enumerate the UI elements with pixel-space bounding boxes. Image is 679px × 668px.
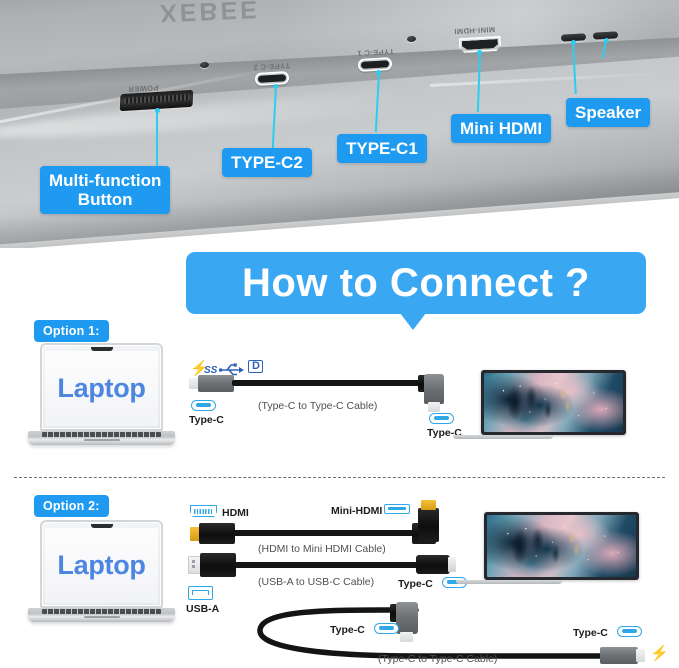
opt2-cableA-dest-label: Mini-HDMI — [331, 505, 382, 517]
section-divider — [14, 477, 665, 478]
callout-mini-hdmi: Mini HDMI — [451, 114, 551, 143]
laptop-lid: Laptop — [40, 520, 163, 608]
laptop-screen-label: Laptop — [57, 373, 145, 404]
monitor-stand — [456, 580, 562, 584]
leader-dot-speaker-b — [604, 38, 609, 43]
monitor-stand — [453, 435, 553, 439]
callout-speaker: Speaker — [566, 98, 650, 127]
callout-type-c1: TYPE-C1 — [337, 134, 427, 163]
opt2-cableC-right-plug — [600, 647, 638, 664]
hdmi-icon — [190, 505, 217, 517]
product-photo-section: XEBEE POWER TYPE-C 2 TYPE-C 1 MINI-HDMI … — [0, 0, 679, 248]
thunderbolt-icon-opt2: ⚡ — [650, 646, 669, 661]
displayport-icon: D — [248, 360, 263, 373]
opt1-cable-wire — [232, 380, 426, 386]
opt2-cableB-type-c-tip — [448, 557, 456, 572]
type-c-icon-opt2-cableC-dest — [617, 626, 642, 637]
opt2-cableC-source-label: Type-C — [330, 624, 365, 636]
leader-dot-type-c2 — [273, 84, 278, 89]
brand-logo-mirrored: XEBEE — [159, 0, 260, 27]
leader-dot-multi-function — [155, 108, 160, 113]
leader-dot-mini-hdmi — [477, 50, 482, 55]
usb-a-icon — [188, 586, 213, 600]
opt2-cableC-angle-housing — [396, 602, 418, 634]
banner-pointer — [400, 313, 426, 330]
leader-line-multi-function — [156, 110, 158, 168]
silkscreen-type-c2: TYPE-C 2 — [253, 61, 290, 72]
silkscreen-type-c1: TYPE-C 1 — [357, 47, 394, 58]
opt1-right-type-c-tip — [428, 402, 440, 412]
opt1-source-port-label: Type-C — [189, 414, 224, 426]
laptop-screen: Laptop — [45, 351, 158, 426]
laptop-screen-label: Laptop — [57, 550, 145, 581]
opt2-cableB-wire — [234, 562, 419, 568]
option-2-badge: Option 2: — [34, 495, 109, 517]
hdmi-plug-body — [199, 523, 235, 544]
leader-dot-type-c1 — [376, 70, 381, 75]
option-1-badge: Option 1: — [34, 320, 109, 342]
monitor-screen-artwork — [484, 373, 623, 432]
opt2-cableC-dest-label: Type-C — [573, 627, 608, 639]
laptop-base — [28, 608, 175, 622]
opt2-cableA-source-label: HDMI — [222, 507, 249, 519]
laptop-base — [28, 431, 175, 445]
callout-line-1: Multi-function — [49, 171, 161, 190]
opt1-cable-caption: (Type-C to Type-C Cable) — [258, 400, 377, 412]
opt2-cableC-angle-tip — [400, 632, 413, 642]
usb-trident-icon — [219, 362, 245, 376]
type-c1-port — [358, 57, 393, 72]
type-c-icon-opt2-cableC-source — [374, 623, 399, 634]
type-c-icon-opt1-dest — [429, 413, 454, 424]
option-2-laptop: Laptop — [28, 520, 175, 624]
opt2-cableC-caption: (Type-C to Type-C Cable) — [378, 653, 497, 665]
opt2-cableB-caption: (USB-A to USB-C Cable) — [258, 576, 374, 588]
minihdmi-gold-tip — [421, 500, 436, 510]
opt1-right-angle-housing — [424, 374, 444, 404]
monitor-screen-artwork — [487, 515, 636, 577]
mini-hdmi-icon — [384, 504, 410, 514]
callout-type-c2: TYPE-C2 — [222, 148, 312, 177]
opt2-cableA-wire — [233, 530, 418, 536]
laptop-screen: Laptop — [45, 528, 158, 603]
opt2-cableB-type-c-plug — [416, 555, 450, 574]
opt2-cableC-right-tip — [636, 649, 645, 662]
opt2-cableB-source-label: USB-A — [186, 603, 219, 615]
opt2-cableB-dest-label: Type-C — [398, 578, 433, 590]
laptop-lid: Laptop — [40, 343, 163, 431]
option-1-laptop: Laptop — [28, 343, 175, 447]
callout-multi-function-button: Multi-function Button — [40, 166, 170, 214]
opt1-left-type-c-plug — [198, 375, 234, 392]
callout-line-2: Button — [49, 190, 161, 209]
leader-dot-speaker-a — [571, 40, 576, 45]
minihdmi-angle-housing — [418, 508, 439, 542]
banner-title: How to Connect ? — [242, 261, 590, 306]
how-to-connect-banner: How to Connect ? — [186, 252, 646, 314]
type-c2-port — [255, 71, 290, 86]
type-c-icon-opt1-source — [191, 400, 216, 411]
usb-a-plug-body — [200, 553, 236, 577]
opt2-cableA-caption: (HDMI to Mini HDMI Cable) — [258, 543, 386, 555]
